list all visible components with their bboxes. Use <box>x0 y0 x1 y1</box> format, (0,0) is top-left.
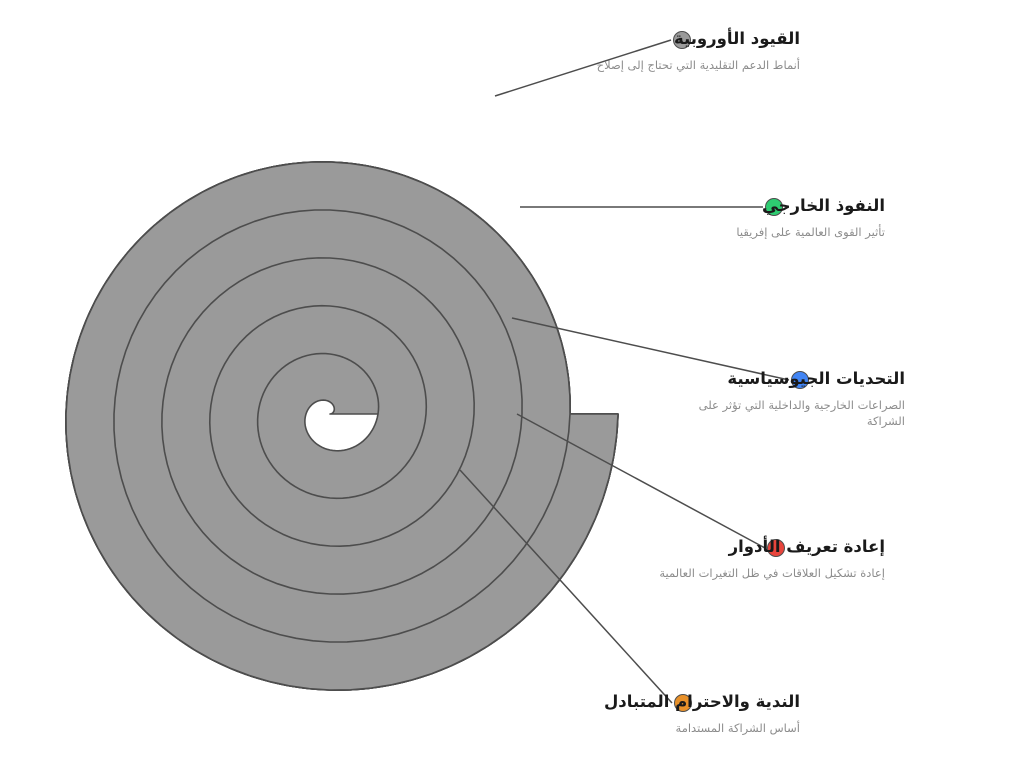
label-title-european-constraints: القيود الأوروبية <box>597 29 800 50</box>
label-group-geopolitical-challenges[interactable]: التحديات الجيوسياسيةالصراعات الخارجية وا… <box>675 369 905 430</box>
label-title-external-influence: النفوذ الخارجي <box>736 196 885 217</box>
spiral-diagram-canvas: القيود الأوروبيةأنماط الدعم التقليدية ال… <box>0 0 1024 776</box>
label-group-external-influence[interactable]: النفوذ الخارجيتأثير القوى العالمية على إ… <box>736 196 885 240</box>
label-title-equality-mutual-respect: الندية والاحترام المتبادل <box>604 692 800 713</box>
label-description-european-constraints: أنماط الدعم التقليدية التي تحتاج إلى إصل… <box>597 57 800 74</box>
label-description-external-influence: تأثير القوى العالمية على إفريقيا <box>736 224 885 241</box>
label-group-equality-mutual-respect[interactable]: الندية والاحترام المتبادلأساس الشراكة ال… <box>604 692 800 736</box>
label-description-redefining-roles: إعادة تشكيل العلاقات في ظل التغيرات العا… <box>659 565 885 582</box>
spiral-band-european-constraints[interactable] <box>66 162 618 690</box>
label-group-redefining-roles[interactable]: إعادة تعريف الأدوارإعادة تشكيل العلاقات … <box>659 537 885 581</box>
label-group-european-constraints[interactable]: القيود الأوروبيةأنماط الدعم التقليدية ال… <box>597 29 800 73</box>
label-description-geopolitical-challenges: الصراعات الخارجية والداخلية التي تؤثر عل… <box>675 397 905 430</box>
label-title-redefining-roles: إعادة تعريف الأدوار <box>659 537 885 558</box>
label-description-equality-mutual-respect: أساس الشراكة المستدامة <box>604 720 800 737</box>
label-title-geopolitical-challenges: التحديات الجيوسياسية <box>675 369 905 390</box>
spiral-bands-group <box>66 162 618 690</box>
